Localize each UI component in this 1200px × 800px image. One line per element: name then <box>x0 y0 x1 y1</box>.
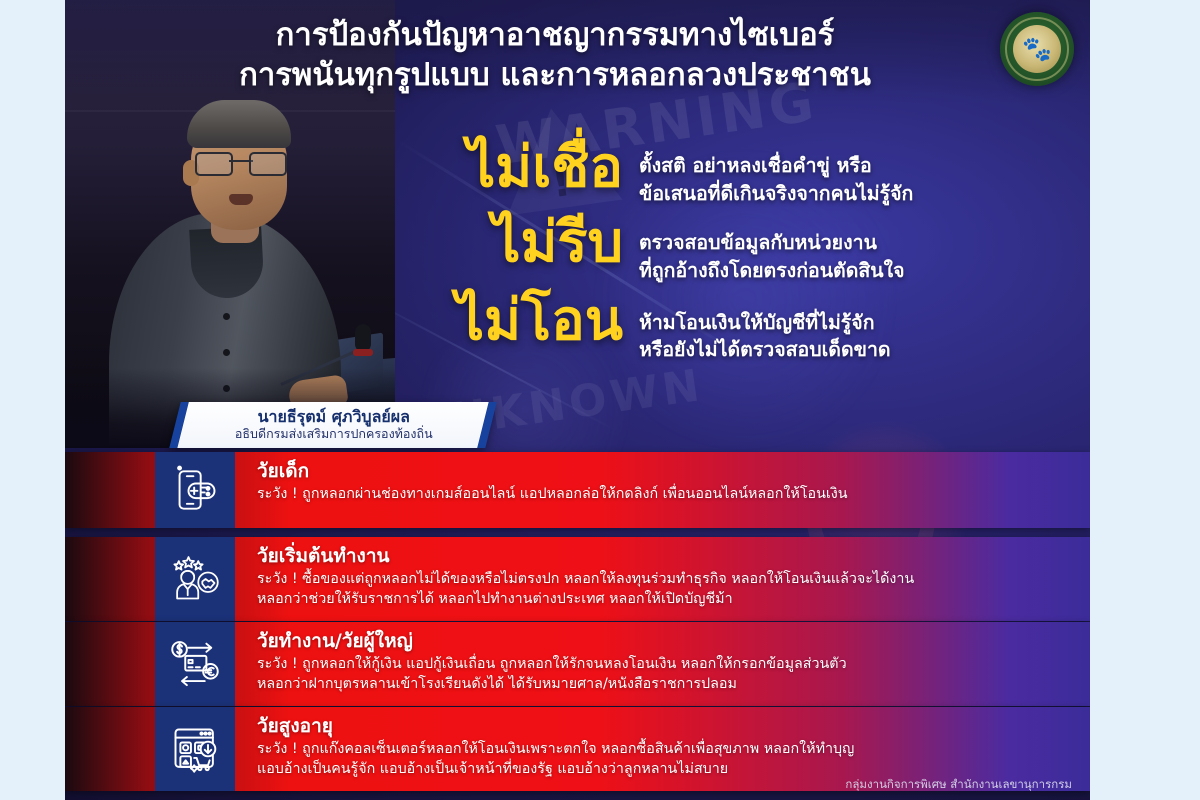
jacket-button <box>223 313 230 320</box>
slogan-keyword-1: ไม่เชื่อ <box>365 138 639 198</box>
bar-body: วัยเด็ก ระวัง ! ถูกหลอกผ่านช่องทางเกมส์อ… <box>235 452 1090 528</box>
bar-lead-gradient <box>65 622 155 706</box>
speaker-nameplate: นายธีรุตม์ ศุภวิบูลย์ผล อธิบดีกรมส่งเสริ… <box>169 402 496 448</box>
age-group-row-early-career: วัยเริ่มต้นทำงาน ระวัง ! ซื้อของแต่ถูกหล… <box>65 537 1090 621</box>
age-group-text-line1: ระวัง ! ถูกแก๊งคอลเซ็นเตอร์หลอกให้โอนเงิ… <box>257 739 1072 759</box>
slogan-desc-2-line2: ที่ถูกอ้างถึงโดยตรงก่อนตัดสินใจ <box>639 257 1065 285</box>
speaker-name: นายธีรุตม์ ศุภวิบูลย์ผล <box>184 407 484 426</box>
infographic-poster: ! WARNING UNKNOWN <box>0 0 1200 800</box>
speaker-role: อธิบดีกรมส่งเสริมการปกครองท้องถิ่น <box>184 426 484 442</box>
slogan-keyword-3: ไม่โอน <box>365 291 639 351</box>
bar-body: วัยทำงาน/วัยผู้ใหญ่ ระวัง ! ถูกหลอกให้กู… <box>235 622 1090 706</box>
slogan-desc-3-line2: หรือยังไม่ได้ตรวจสอบเด็ดขาด <box>639 336 1065 364</box>
speaker-mouth <box>229 194 253 205</box>
eyeglasses-icon <box>195 152 287 172</box>
slogan-desc-1-line2: ข้อเสนอที่ดีเกินจริงจากคนไม่รู้จัก <box>639 180 1065 208</box>
age-group-title: วัยเด็ก <box>257 460 1072 484</box>
slogan-block: ไม่เชื่อ ตั้งสติ อย่าหลงเชื่อคำขู่ หรือ … <box>365 138 1065 370</box>
age-group-row-child: วัยเด็ก ระวัง ! ถูกหลอกผ่านช่องทางเกมส์อ… <box>65 452 1090 528</box>
age-group-text-line2: หลอกว่าช่วยให้รับราชการได้ หลอกไปทำงานต่… <box>257 589 1072 609</box>
slogan-row-1: ไม่เชื่อ ตั้งสติ อย่าหลงเชื่อคำขู่ หรือ … <box>365 138 1065 207</box>
poster-canvas: ! WARNING UNKNOWN <box>65 0 1090 800</box>
slogan-description-3: ห้ามโอนเงินให้บัญชีที่ไม่รู้จัก หรือยังไ… <box>639 291 1065 364</box>
age-group-title: วัยเริ่มต้นทำงาน <box>257 545 1072 569</box>
page-title: การป้องกันปัญหาอาชญากรรมทางไซเบอร์ การพน… <box>125 16 985 95</box>
online-shopping-cart-icon <box>155 707 235 791</box>
slogan-row-2: ไม่รีบ ตรวจสอบข้อมูลกับหน่วยงาน ที่ถูกอ้… <box>365 213 1065 284</box>
bar-lead-gradient <box>65 452 155 528</box>
age-group-text-line1: ระวัง ! ซื้อของแต่ถูกหลอกไม่ได้ของหรือไม… <box>257 569 1072 589</box>
slogan-row-3: ไม่โอน ห้ามโอนเงินให้บัญชีที่ไม่รู้จัก ห… <box>365 291 1065 364</box>
seal-lion-icon: 🐾 <box>1013 25 1061 73</box>
money-exchange-dollar-euro-icon <box>155 622 235 706</box>
slogan-description-2: ตรวจสอบข้อมูลกับหน่วยงาน ที่ถูกอ้างถึงโด… <box>639 213 1065 284</box>
header: การป้องกันปัญหาอาชญากรรมทางไซเบอร์ การพน… <box>65 0 1090 104</box>
age-group-text-line1: ระวัง ! ถูกหลอกผ่านช่องทางเกมส์ออนไลน์ แ… <box>257 484 1072 504</box>
speaker-hair <box>187 100 291 148</box>
slogan-keyword-2: ไม่รีบ <box>365 213 639 273</box>
slogan-desc-1-line1: ตั้งสติ อย่าหลงเชื่อคำขู่ หรือ <box>639 152 1065 180</box>
page-title-line2: การพนันทุกรูปแบบ และการหลอกลวงประชาชน <box>125 56 985 96</box>
slogan-desc-2-line1: ตรวจสอบข้อมูลกับหน่วยงาน <box>639 229 1065 257</box>
nameplate-content: นายธีรุตม์ ศุภวิบูลย์ผล อธิบดีกรมส่งเสริ… <box>184 402 484 442</box>
bar-lead-gradient <box>65 537 155 621</box>
page-title-line1: การป้องกันปัญหาอาชญากรรมทางไซเบอร์ <box>125 16 985 56</box>
bar-lead-gradient <box>65 707 155 791</box>
age-group-title: วัยสูงอายุ <box>257 715 1072 739</box>
businessman-handshake-stars-icon <box>155 537 235 621</box>
slogan-description-1: ตั้งสติ อย่าหลงเชื่อคำขู่ หรือ ข้อเสนอที… <box>639 138 1065 207</box>
department-seal-icon: 🐾 <box>1000 12 1074 86</box>
bar-body: วัยเริ่มต้นทำงาน ระวัง ! ซื้อของแต่ถูกหล… <box>235 537 1090 621</box>
age-group-text-line2: หลอกว่าฝากบุตรหลานเข้าโรงเรียนดังได้ ได้… <box>257 674 1072 694</box>
smartphone-game-controller-icon <box>155 452 235 528</box>
age-group-row-working-adult: วัยทำงาน/วัยผู้ใหญ่ ระวัง ! ถูกหลอกให้กู… <box>65 622 1090 706</box>
slogan-desc-3-line1: ห้ามโอนเงินให้บัญชีที่ไม่รู้จัก <box>639 309 1065 337</box>
lens-right <box>249 152 287 176</box>
lens-left <box>195 152 233 176</box>
footer-credit: กลุ่มงานกิจการพิเศษ สำนักงานเลขานุการกรม <box>845 776 1072 794</box>
age-group-title: วัยทำงาน/วัยผู้ใหญ่ <box>257 630 1072 654</box>
jacket-button-2 <box>223 349 230 356</box>
age-group-text-line1: ระวัง ! ถูกหลอกให้กู้เงิน แอปกู้เงินเถื่… <box>257 654 1072 674</box>
